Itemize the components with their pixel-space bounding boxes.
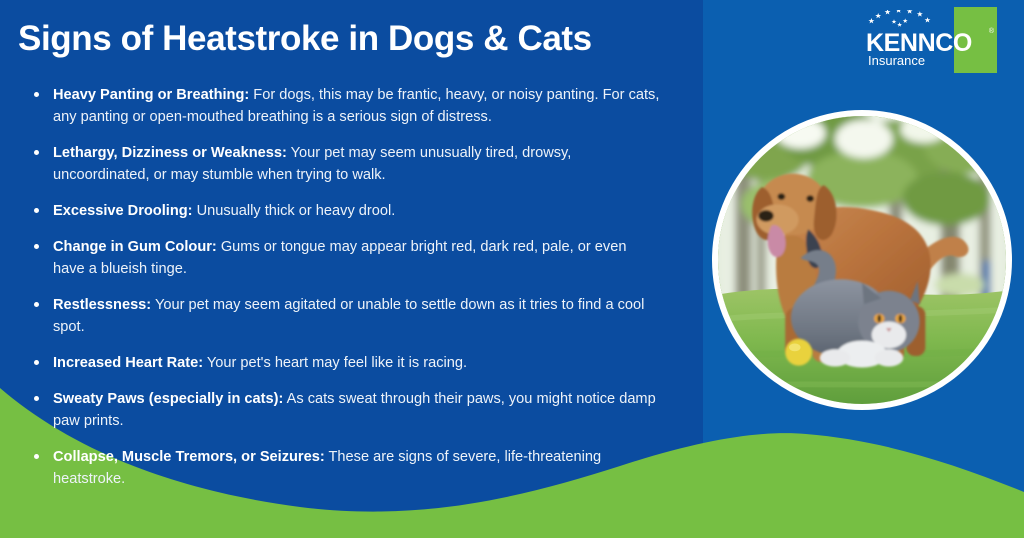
list-item: Excessive Drooling: Unusually thick or h…	[30, 200, 662, 222]
list-item-description: Unusually thick or heavy drool.	[193, 203, 396, 219]
list-item-term: Increased Heart Rate:	[53, 355, 203, 371]
list-item-term: Sweaty Paws (especially in cats):	[53, 391, 283, 407]
bullet-dot-icon	[34, 454, 39, 459]
infographic-canvas: Signs of Heatstroke in Dogs & Cats Heavy…	[0, 0, 1024, 538]
pet-photo-circle	[712, 110, 1012, 410]
list-item: Increased Heart Rate: Your pet's heart m…	[30, 352, 662, 374]
bullet-dot-icon	[34, 150, 39, 155]
list-item-term: Collapse, Muscle Tremors, or Seizures:	[53, 449, 325, 465]
bullet-dot-icon	[34, 360, 39, 365]
kennco-logo[interactable]: KENNCO ® Insurance	[857, 7, 997, 73]
list-item-term: Heavy Panting or Breathing:	[53, 87, 249, 103]
list-item-description: Your pet's heart may feel like it is rac…	[203, 355, 467, 371]
list-item: Heavy Panting or Breathing: For dogs, th…	[30, 84, 662, 128]
logo-subtitle: Insurance	[868, 53, 925, 68]
list-item: Collapse, Muscle Tremors, or Seizures: T…	[30, 446, 662, 490]
logo-wordmark-co: CO	[935, 29, 972, 57]
list-item-term: Excessive Drooling:	[53, 203, 193, 219]
bullet-dot-icon	[34, 92, 39, 97]
list-item: Lethargy, Dizziness or Weakness: Your pe…	[30, 142, 662, 186]
registered-trademark-icon: ®	[989, 28, 994, 35]
bullet-dot-icon	[34, 396, 39, 401]
dog-and-cat-photo-illustration	[718, 116, 1006, 404]
bullet-dot-icon	[34, 244, 39, 249]
bullet-dot-icon	[34, 208, 39, 213]
list-item: Change in Gum Colour: Gums or tongue may…	[30, 236, 662, 280]
list-item: Sweaty Paws (especially in cats): As cat…	[30, 388, 662, 432]
pet-photo-image	[718, 116, 1006, 404]
list-item: Restlessness: Your pet may seem agitated…	[30, 294, 662, 338]
page-title: Signs of Heatstroke in Dogs & Cats	[18, 17, 708, 61]
bullet-dot-icon	[34, 302, 39, 307]
heatstroke-signs-list: Heavy Panting or Breathing: For dogs, th…	[30, 84, 662, 490]
list-item-term: Change in Gum Colour:	[53, 239, 217, 255]
list-item-term: Lethargy, Dizziness or Weakness:	[53, 145, 287, 161]
list-item-term: Restlessness:	[53, 297, 151, 313]
